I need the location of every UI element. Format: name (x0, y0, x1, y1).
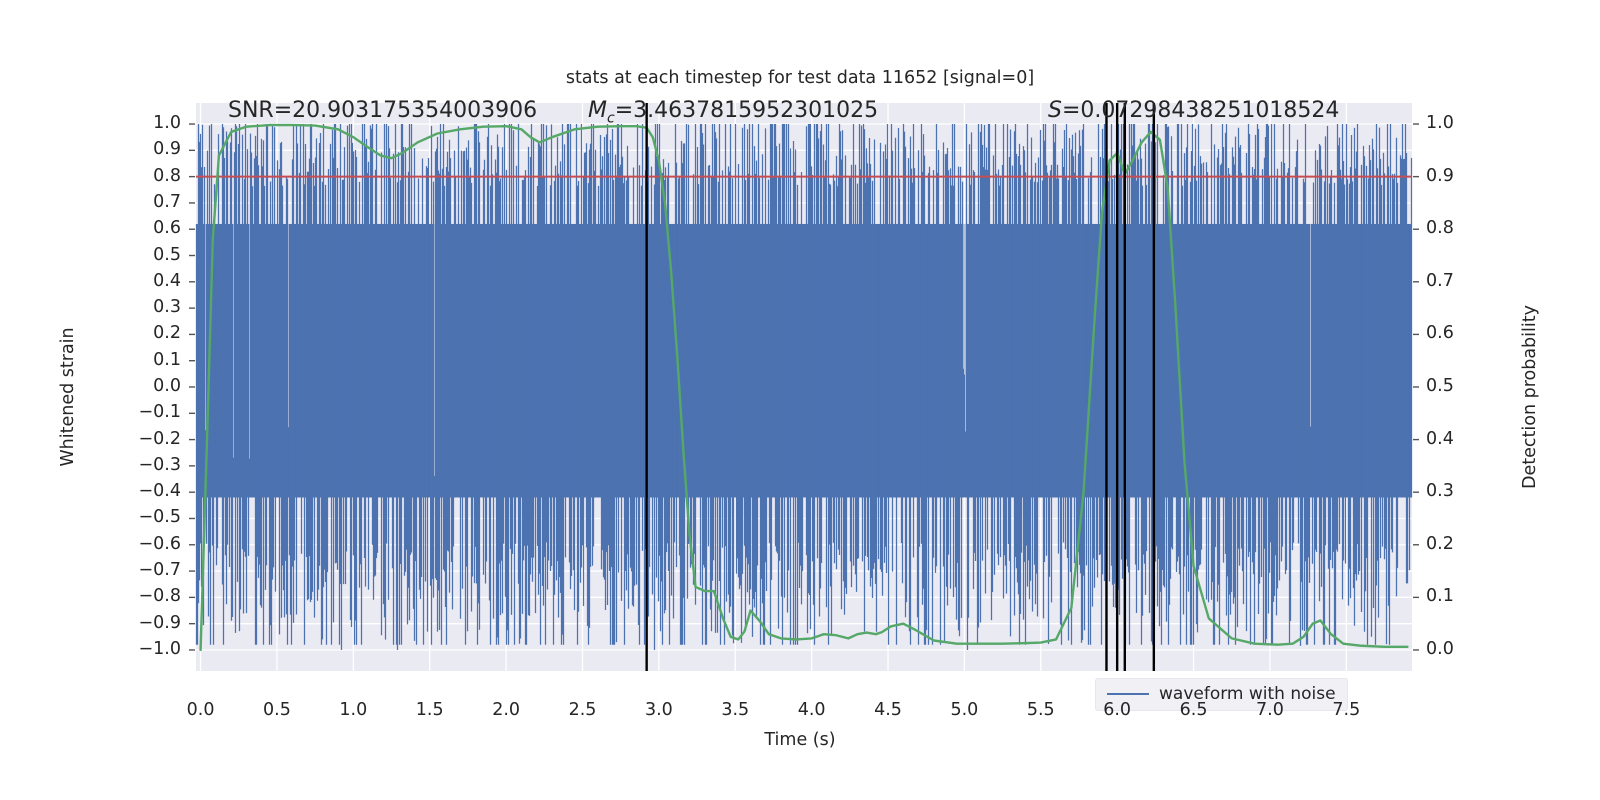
y-tick-label-left: 0.1 (121, 350, 181, 370)
annotation-s-symbol: S (1048, 98, 1062, 123)
y-tick-label-left: 0.7 (121, 192, 181, 212)
x-tick-label: 3.5 (700, 700, 770, 720)
y-tick-label-right: 0.5 (1426, 376, 1454, 396)
x-tick-label: 6.0 (1082, 700, 1152, 720)
annotation-mc-value: 3.4637815952301025 (633, 98, 878, 123)
y-tick-label-right: 0.6 (1426, 323, 1454, 343)
x-tick-label: 1.0 (318, 700, 388, 720)
y-tick-label-right: 0.4 (1426, 429, 1454, 449)
x-tick-label: 0.5 (242, 700, 312, 720)
y-tick-label-right: 0.9 (1426, 166, 1454, 186)
y-tick-label-left: −0.5 (121, 507, 181, 527)
y-tick-label-right: 0.1 (1426, 586, 1454, 606)
annotation-mc-equals: = (615, 98, 633, 123)
annotation-snr-label: SNR= (228, 98, 292, 123)
y-tick-label-left: 0.3 (121, 297, 181, 317)
annotation-s-value: 0.07298438251018524 (1080, 98, 1339, 123)
annotation-statistic-s: S=0.07298438251018524 (1048, 98, 1339, 123)
y-tick-label-left: −0.4 (121, 481, 181, 501)
annotation-s-equals: = (1062, 98, 1080, 123)
y-tick-label-left: −0.6 (121, 534, 181, 554)
y-tick-label-left: 0.0 (121, 376, 181, 396)
x-tick-label: 4.5 (853, 700, 923, 720)
y-tick-label-left: 0.9 (121, 139, 181, 159)
x-tick-label: 7.0 (1235, 700, 1305, 720)
annotation-snr: SNR=20.903175354003906 (228, 98, 537, 123)
annotation-mc-subscript: c (607, 110, 615, 126)
x-axis-label: Time (s) (0, 730, 1600, 750)
y-tick-label-right: 0.3 (1426, 481, 1454, 501)
x-tick-label: 4.0 (777, 700, 847, 720)
legend-line-swatch (1107, 693, 1149, 695)
y-tick-label-left: −0.8 (121, 586, 181, 606)
y-tick-label-left: 0.2 (121, 323, 181, 343)
y-tick-label-right: 0.7 (1426, 271, 1454, 291)
x-tick-label: 6.5 (1159, 700, 1229, 720)
y-tick-label-left: −1.0 (121, 639, 181, 659)
y-tick-label-left: 0.4 (121, 271, 181, 291)
y-tick-label-left: −0.1 (121, 402, 181, 422)
x-tick-label: 7.5 (1311, 700, 1381, 720)
y-tick-label-right: 1.0 (1426, 113, 1454, 133)
y-tick-label-right: 0.0 (1426, 639, 1454, 659)
x-tick-label: 2.0 (471, 700, 541, 720)
x-tick-label: 2.5 (547, 700, 617, 720)
x-tick-label: 5.5 (1006, 700, 1076, 720)
y-axis-left-label: Whitened strain (58, 267, 78, 527)
y-tick-label-left: 1.0 (121, 113, 181, 133)
annotation-mc-symbol: M (588, 98, 607, 123)
x-tick-label: 3.0 (624, 700, 694, 720)
x-tick-label: 0.0 (166, 700, 236, 720)
y-tick-label-left: −0.3 (121, 455, 181, 475)
x-tick-label: 5.0 (929, 700, 999, 720)
y-tick-label-left: 0.6 (121, 218, 181, 238)
y-tick-label-left: −0.7 (121, 560, 181, 580)
y-tick-label-right: 0.8 (1426, 218, 1454, 238)
y-tick-label-left: −0.9 (121, 613, 181, 633)
annotation-chirp-mass: Mc=3.4637815952301025 (588, 98, 878, 126)
x-tick-label: 1.5 (395, 700, 465, 720)
annotation-snr-value: 20.903175354003906 (292, 98, 537, 123)
y-tick-label-right: 0.2 (1426, 534, 1454, 554)
figure-canvas: stats at each timestep for test data 116… (0, 0, 1600, 800)
y-tick-label-left: 0.5 (121, 245, 181, 265)
y-tick-label-left: −0.2 (121, 429, 181, 449)
y-tick-label-left: 0.8 (121, 166, 181, 186)
y-axis-right-label: Detection probability (1520, 267, 1540, 527)
